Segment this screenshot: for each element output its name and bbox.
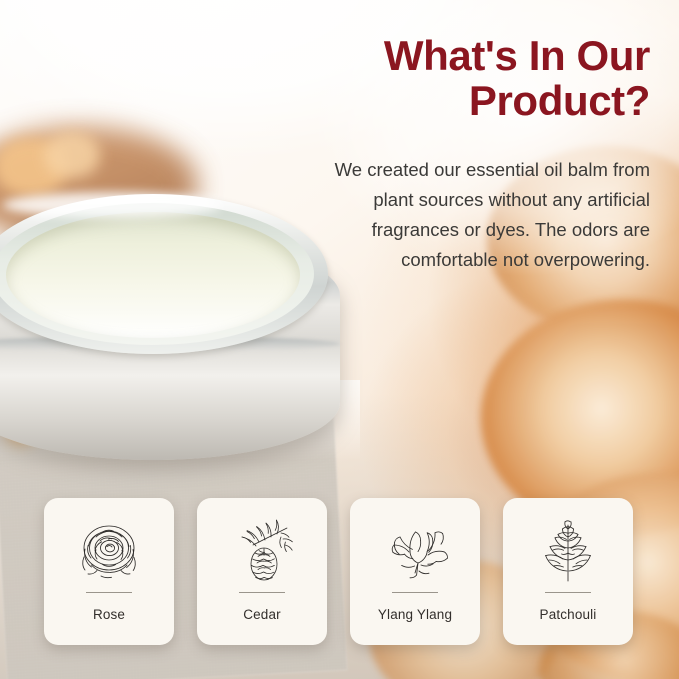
card-divider bbox=[239, 592, 285, 593]
product-ingredients-infographic: What's In Our Product? We created our es… bbox=[0, 0, 679, 679]
ingredient-label: Patchouli bbox=[540, 607, 597, 622]
card-divider bbox=[545, 592, 591, 593]
balm-surface bbox=[6, 212, 300, 338]
ingredient-label: Ylang Ylang bbox=[378, 607, 452, 622]
ingredient-label: Cedar bbox=[243, 607, 281, 622]
ingredient-label: Rose bbox=[93, 607, 125, 622]
description-text: We created our essential oil balm from p… bbox=[320, 155, 650, 275]
ingredient-card-ylang-ylang[interactable]: Ylang Ylang bbox=[350, 498, 480, 645]
patchouli-illustration-icon bbox=[531, 511, 605, 589]
card-divider bbox=[392, 592, 438, 593]
copy-block: What's In Our Product? We created our es… bbox=[320, 34, 650, 275]
ingredient-card-cedar[interactable]: Cedar bbox=[197, 498, 327, 645]
rose-illustration-icon bbox=[72, 511, 146, 589]
ingredient-card-rose[interactable]: Rose bbox=[44, 498, 174, 645]
ingredient-card-patchouli[interactable]: Patchouli bbox=[503, 498, 633, 645]
pinecone-illustration-icon bbox=[225, 511, 299, 589]
resin-piece-icon bbox=[44, 132, 100, 178]
card-divider bbox=[86, 592, 132, 593]
page-title: What's In Our Product? bbox=[320, 34, 650, 124]
ylang-ylang-illustration-icon bbox=[378, 511, 452, 589]
tin-highlight bbox=[2, 192, 222, 218]
ingredient-card-list: Rose bbox=[44, 498, 633, 645]
